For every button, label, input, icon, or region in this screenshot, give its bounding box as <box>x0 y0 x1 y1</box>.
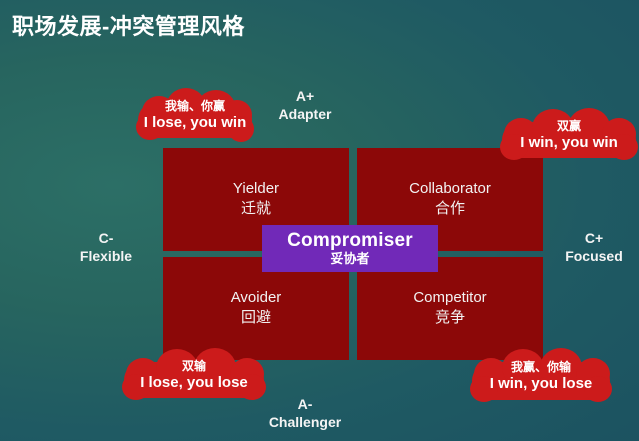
quadrant-avoider-label-zh: 回避 <box>241 308 271 328</box>
axis-label-bottom-text: Challenger <box>269 414 341 432</box>
quadrant-competitor-label-en: Competitor <box>413 289 486 308</box>
callout-text-zh: 双输 <box>182 359 206 374</box>
axis-label-bottom: A- Challenger <box>269 396 341 431</box>
axis-label-left-code: C- <box>58 230 154 248</box>
callout-text-zh: 双赢 <box>557 119 581 134</box>
quadrant-competitor-label-zh: 竞争 <box>435 308 465 328</box>
axis-label-top-code: A+ <box>279 88 332 106</box>
compromiser-label-zh: 妥协者 <box>330 251 369 267</box>
axis-label-right: C+ Focused <box>552 230 636 265</box>
callout-text-en: I win, you lose <box>490 375 593 394</box>
axis-label-right-code: C+ <box>552 230 636 248</box>
callout-cloud-i-win-you-lose: 我赢、你输 I win, you lose <box>470 348 612 406</box>
callout-cloud-i-win-you-win: 双赢 I win, you win <box>500 108 638 164</box>
axis-label-bottom-code: A- <box>269 396 341 414</box>
callout-text-zh: 我赢、你输 <box>511 360 571 375</box>
quadrant-avoider-label-en: Avoider <box>231 289 282 308</box>
callout-text-en: I lose, you lose <box>140 374 248 393</box>
slide-canvas: 职场发展-冲突管理风格 Yielder 迁就 Collaborator 合作 A… <box>0 0 639 441</box>
quadrant-yielder-label-zh: 迁就 <box>241 199 271 219</box>
axis-label-top: A+ Adapter <box>279 88 332 123</box>
quadrant-yielder-label-en: Yielder <box>233 180 279 199</box>
axis-label-left-text: Flexible <box>58 248 154 266</box>
axis-label-right-text: Focused <box>552 248 636 266</box>
callout-text-zh: 我输、你赢 <box>165 99 225 114</box>
quadrant-collaborator-label-en: Collaborator <box>409 180 491 199</box>
compromiser-label-en: Compromiser <box>287 231 413 251</box>
callout-cloud-i-lose-you-lose: 双输 I lose, you lose <box>122 348 266 404</box>
axis-label-left: C- Flexible <box>58 230 154 265</box>
callout-cloud-i-lose-you-win: 我输、你赢 I lose, you win <box>136 88 254 144</box>
quadrant-competitor[interactable]: Competitor 竞争 <box>357 257 543 360</box>
callout-text-en: I win, you win <box>520 134 618 153</box>
callout-text-en: I lose, you win <box>144 114 247 133</box>
page-title: 职场发展-冲突管理风格 <box>12 9 245 41</box>
axis-label-top-text: Adapter <box>279 106 332 124</box>
quadrant-collaborator-label-zh: 合作 <box>435 199 465 219</box>
compromiser-center-box[interactable]: Compromiser 妥协者 <box>262 225 438 272</box>
quadrant-avoider[interactable]: Avoider 回避 <box>163 257 349 360</box>
